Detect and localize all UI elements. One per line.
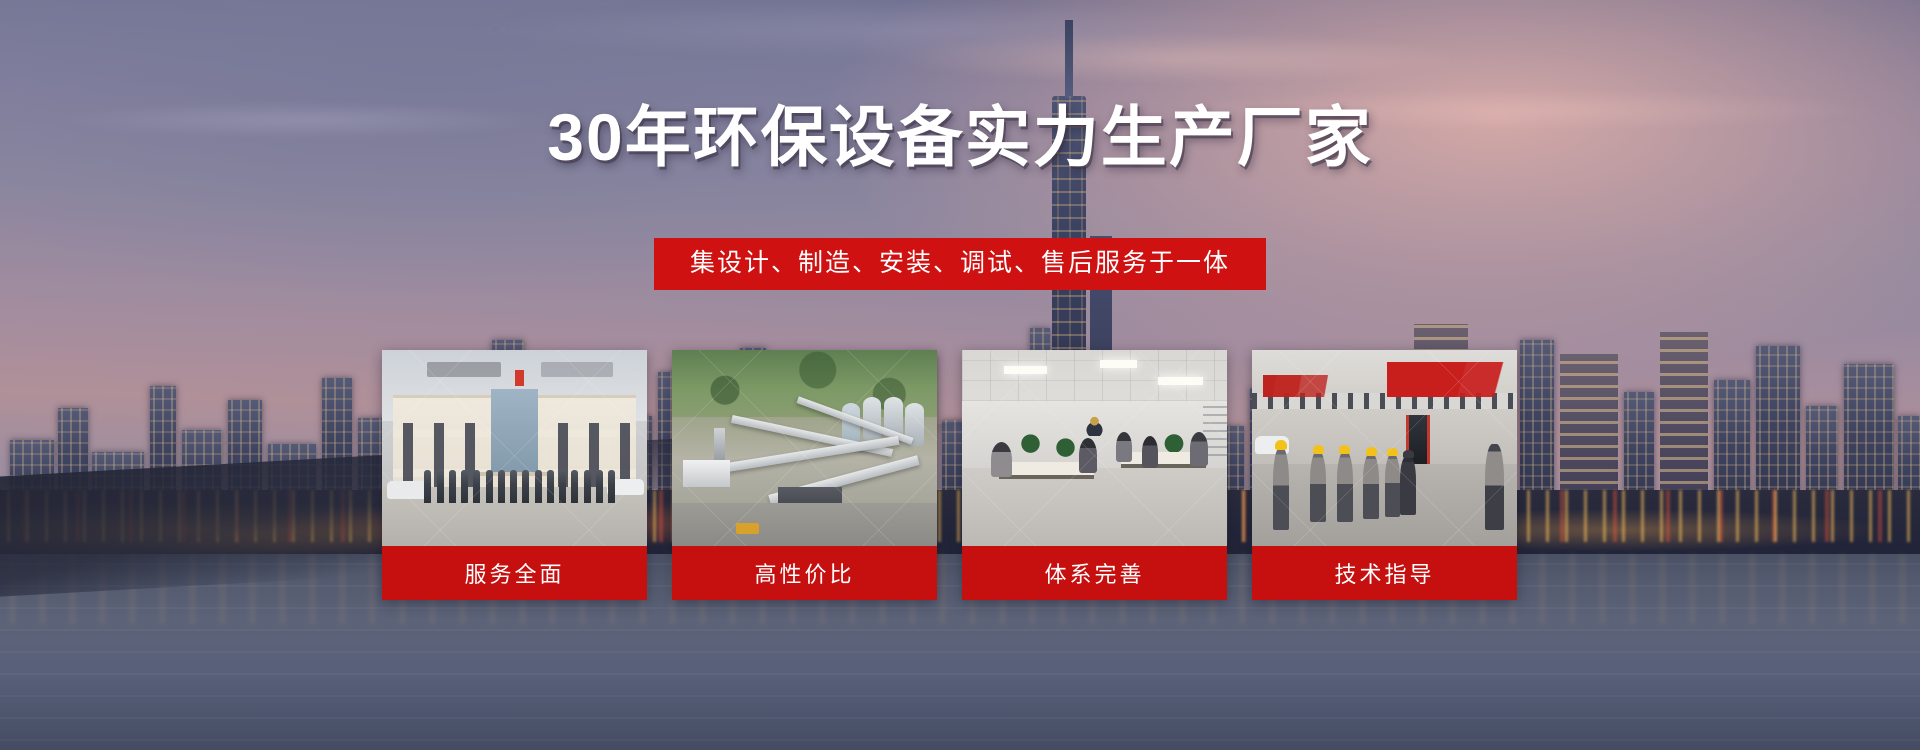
headquarters-building-photo [382, 350, 647, 546]
hero-banner: 30年环保设备实力生产厂家 集设计、制造、安装、调试、售后服务于一体 [0, 0, 1920, 750]
car-left [387, 481, 429, 499]
workshop-wall-slogan [1387, 362, 1509, 397]
loader-truck [736, 523, 760, 535]
staff-lineup [424, 470, 615, 503]
feature-card-service[interactable]: 服务全面 [382, 350, 647, 600]
feature-card-row: 服务全面 高性价比 [382, 350, 1538, 600]
subtitle-bar-wrapper: 集设计、制造、安装、调试、售后服务于一体 [0, 238, 1920, 290]
feature-card-system[interactable]: 体系完善 [962, 350, 1227, 600]
flag-icon [515, 370, 524, 386]
feature-card-guidance[interactable]: 技术指导 [1252, 350, 1517, 600]
phone-sign [541, 362, 613, 378]
wall-decal [1073, 409, 1115, 436]
feature-card-value[interactable]: 高性价比 [672, 350, 937, 600]
industrial-plant-photo [672, 350, 937, 546]
supervisor [1485, 444, 1504, 530]
factory-workers-photo [1252, 350, 1517, 546]
company-sign [427, 362, 501, 378]
feature-card-label: 服务全面 [382, 546, 647, 600]
subtitle-badge: 集设计、制造、安装、调试、售后服务于一体 [654, 238, 1266, 290]
feature-card-label: 体系完善 [962, 546, 1227, 600]
feature-card-label: 高性价比 [672, 546, 937, 600]
office-interior-photo [962, 350, 1227, 546]
feature-card-label: 技术指导 [1252, 546, 1517, 600]
workshop-side-slogan [1263, 375, 1343, 397]
page-title: 30年环保设备实力生产厂家 [0, 104, 1920, 170]
